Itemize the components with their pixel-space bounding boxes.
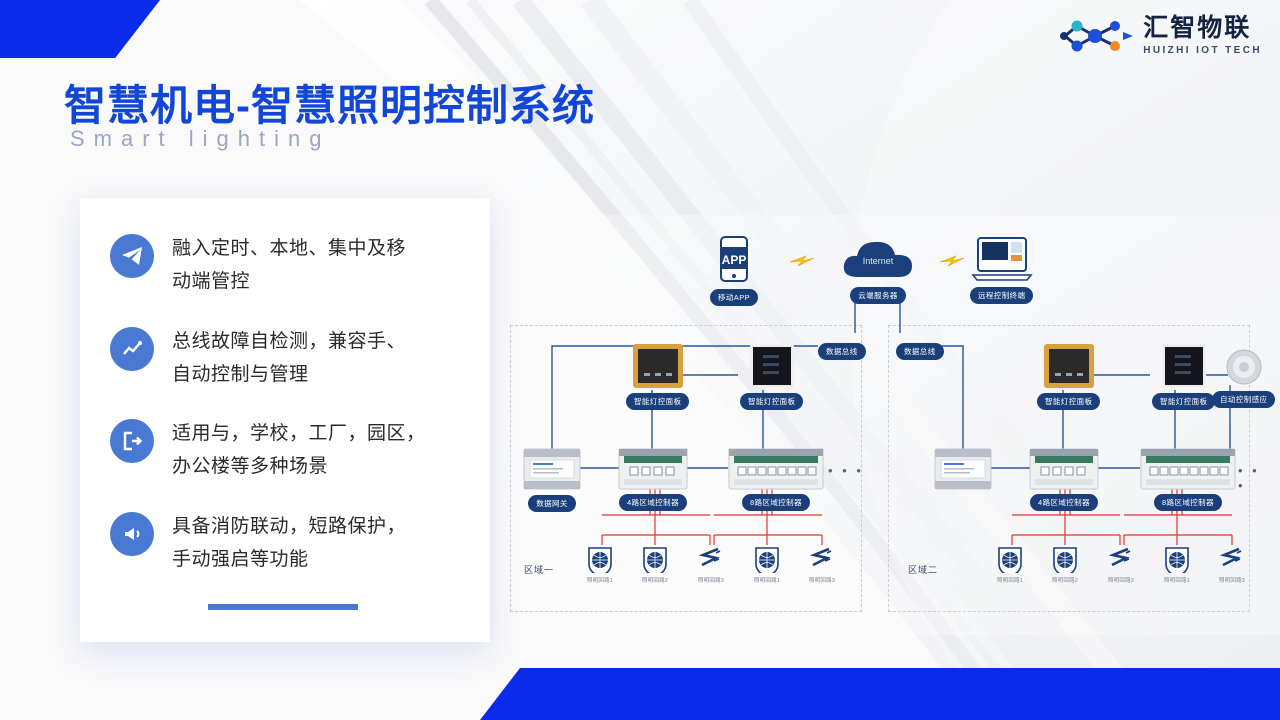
node-label: 云端服务器 xyxy=(850,287,906,304)
zone-label-1: 区域一 xyxy=(524,563,554,576)
circuit-label: 照明回路3 xyxy=(698,576,724,584)
laptop-icon xyxy=(971,235,1033,283)
controller-device-icon xyxy=(1029,448,1099,490)
cloud-text: Internet xyxy=(863,256,894,266)
node-light-panel-zone2-b: 智能灯控面板 xyxy=(1152,343,1215,410)
feature-text: 融入定时、本地、集中及移 动端管控 xyxy=(172,232,406,299)
system-architecture-diagram: APP 移动APP Internet 云端服务器 远程控制终端 数据总线 数据总… xyxy=(500,215,1270,615)
lamp-circuit-icon xyxy=(752,545,782,573)
circuit-zone2-5: 照明回路1 xyxy=(1162,545,1192,584)
lamp-strip-icon xyxy=(1217,545,1247,573)
lamp-circuit-icon xyxy=(585,545,615,573)
node-controller-4ch-zone2: 4路区域控制器 xyxy=(1029,448,1099,511)
light-panel-icon xyxy=(749,343,795,389)
node-label: 4路区域控制器 xyxy=(1030,494,1098,511)
circuit-zone1-6: 照明回路3 xyxy=(807,545,837,584)
circuit-zone1-2: 照明回路2 xyxy=(640,545,670,584)
circuit-label: 照明回路1 xyxy=(754,576,780,584)
node-label: 智能灯控面板 xyxy=(1152,393,1215,410)
circuit-zone1-5: 照明回路1 xyxy=(752,545,782,584)
circuit-label: 照明回路3 xyxy=(809,576,835,584)
lamp-circuit-icon xyxy=(1162,545,1192,573)
feature-text: 适用与，学校，工厂，园区， 办公楼等多种场景 xyxy=(172,417,426,484)
node-remote-terminal: 远程控制终端 xyxy=(970,235,1033,304)
circuit-label: 照明回路3 xyxy=(1108,576,1134,584)
megaphone-icon xyxy=(110,512,154,556)
node-label: 数据网关 xyxy=(528,495,576,512)
page-subtitle: Smart lighting xyxy=(70,126,331,152)
controller-device-icon xyxy=(1140,448,1236,490)
card-underline-bar xyxy=(208,604,358,610)
feature-item: 适用与，学校，工厂，园区， 办公楼等多种场景 xyxy=(80,417,490,484)
node-label: 8路区域控制器 xyxy=(742,494,810,511)
node-gateway-zone1: 数据网关 xyxy=(522,447,582,512)
bus-label-1: 数据总线 xyxy=(818,343,866,360)
node-label: 移动APP xyxy=(710,289,758,306)
motion-sensor-icon xyxy=(1225,347,1263,387)
node-label: 4路区域控制器 xyxy=(619,494,687,511)
lamp-strip-icon xyxy=(1106,545,1136,573)
more-indicator-zone1: • • • xyxy=(828,463,864,478)
node-cloud-server: Internet 云端服务器 xyxy=(840,237,916,304)
gateway-device-icon xyxy=(933,447,993,491)
lamp-strip-icon xyxy=(807,545,837,573)
logo-name-en: HUIZHI IOT TECH xyxy=(1143,46,1262,56)
node-light-panel-zone1-a: 智能灯控面板 xyxy=(626,343,689,410)
svg-text:APP: APP xyxy=(722,253,747,267)
bottom-right-accent-shape xyxy=(480,668,1280,720)
lamp-circuit-icon xyxy=(995,545,1025,573)
light-panel-icon xyxy=(1161,343,1207,389)
node-controller-4ch-zone1: 4路区域控制器 xyxy=(618,448,688,511)
page-title: 智慧机电-智慧照明控制系统 xyxy=(64,72,595,133)
lamp-strip-icon xyxy=(696,545,726,573)
bus-label-2: 数据总线 xyxy=(896,343,944,360)
zone-label-2: 区域二 xyxy=(908,563,938,576)
lamp-circuit-icon xyxy=(1050,545,1080,573)
feature-item: 融入定时、本地、集中及移 动端管控 xyxy=(80,232,490,299)
light-panel-icon xyxy=(1043,343,1095,389)
molecule-network-icon xyxy=(1057,14,1135,58)
node-label: 远程控制终端 xyxy=(970,287,1033,304)
circuit-label: 照明回路2 xyxy=(1052,576,1078,584)
logo-name-cn: 汇智物联 xyxy=(1143,16,1262,41)
node-label: 智能灯控面板 xyxy=(626,393,689,410)
node-label: 自动控制感应 xyxy=(1212,391,1275,408)
circuit-zone1-3: 照明回路3 xyxy=(696,545,726,584)
circuit-label: 照明回路2 xyxy=(642,576,668,584)
circuit-zone2-1: 照明回路1 xyxy=(995,545,1025,584)
lamp-circuit-icon xyxy=(640,545,670,573)
controller-device-icon xyxy=(618,448,688,490)
node-controller-8ch-zone2: 8路区域控制器 xyxy=(1140,448,1236,511)
node-controller-8ch-zone1: 8路区域控制器 xyxy=(728,448,824,511)
node-mobile-app: APP 移动APP xyxy=(710,235,758,306)
feature-item: 总线故障自检测，兼容手、 自动控制与管理 xyxy=(80,325,490,392)
feature-item: 具备消防联动，短路保护， 手动强启等功能 xyxy=(80,510,490,577)
circuit-label: 照明回路1 xyxy=(1164,576,1190,584)
brand-logo: 汇智物联 HUIZHI IOT TECH xyxy=(1057,14,1262,58)
cloud-icon: Internet xyxy=(840,237,916,283)
circuit-zone2-3: 照明回路3 xyxy=(1106,545,1136,584)
circuit-zone2-6: 照明回路3 xyxy=(1217,545,1247,584)
smartphone-icon: APP xyxy=(714,235,754,285)
gateway-device-icon xyxy=(522,447,582,491)
more-indicator-zone2: • • • xyxy=(1238,463,1270,493)
logout-arrow-icon xyxy=(110,419,154,463)
features-card: 融入定时、本地、集中及移 动端管控 总线故障自检测，兼容手、 自动控制与管理 适… xyxy=(80,198,490,642)
circuit-label: 照明回路1 xyxy=(587,576,613,584)
node-light-panel-zone1-b: 智能灯控面板 xyxy=(740,343,803,410)
circuit-zone1-1: 照明回路1 xyxy=(585,545,615,584)
chart-trend-icon xyxy=(110,327,154,371)
light-panel-icon xyxy=(632,343,684,389)
node-light-panel-zone2-a: 智能灯控面板 xyxy=(1037,343,1100,410)
feature-text: 总线故障自检测，兼容手、 自动控制与管理 xyxy=(172,325,406,392)
circuit-zone2-2: 照明回路2 xyxy=(1050,545,1080,584)
paper-plane-icon xyxy=(110,234,154,278)
node-label: 智能灯控面板 xyxy=(1037,393,1100,410)
node-auto-sensor-zone2: 自动控制感应 xyxy=(1212,347,1275,408)
node-label: 8路区域控制器 xyxy=(1154,494,1222,511)
circuit-label: 照明回路1 xyxy=(997,576,1023,584)
controller-device-icon xyxy=(728,448,824,490)
node-label: 智能灯控面板 xyxy=(740,393,803,410)
circuit-label: 照明回路3 xyxy=(1219,576,1245,584)
feature-text: 具备消防联动，短路保护， 手动强启等功能 xyxy=(172,510,406,577)
